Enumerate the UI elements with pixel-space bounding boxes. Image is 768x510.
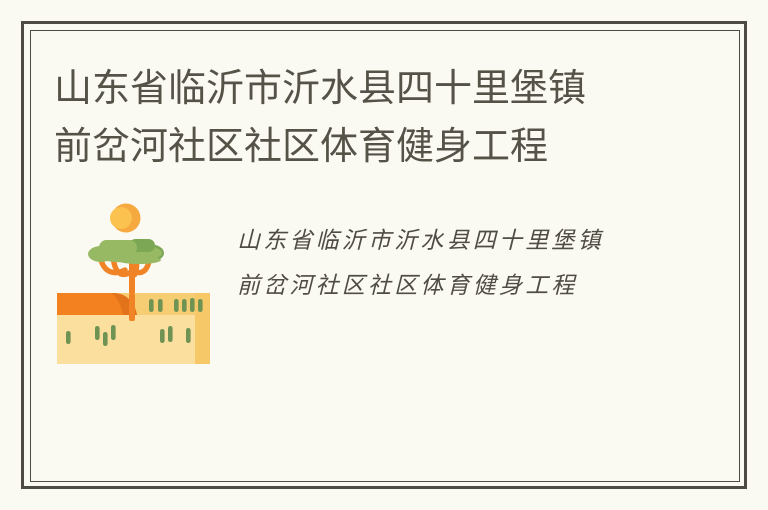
page-title: 山东省临沂市沂水县四十里堡镇 前岔河社区社区体育健身工程 xyxy=(54,60,654,176)
sun-icon xyxy=(110,204,141,233)
page-title-line-2: 前岔河社区社区体育健身工程 xyxy=(54,118,654,176)
poster-card: 山东省临沂市沂水县四十里堡镇 前岔河社区社区体育健身工程 xyxy=(0,0,768,510)
handwritten-caption: 山东省临沂市沂水县四十里堡镇 前岔河社区社区体育健身工程 xyxy=(237,218,657,308)
page-title-line-1: 山东省临沂市沂水县四十里堡镇 xyxy=(54,60,654,118)
handwritten-caption-line-2: 前岔河社区社区体育健身工程 xyxy=(237,263,657,308)
savanna-tree-landscape-illustration xyxy=(55,198,215,364)
handwritten-caption-line-1: 山东省临沂市沂水县四十里堡镇 xyxy=(237,218,657,263)
